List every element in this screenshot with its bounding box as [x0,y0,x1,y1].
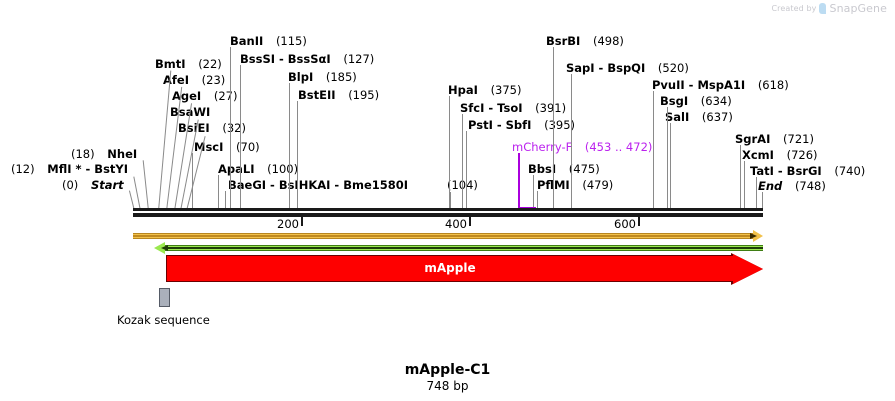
snapgene-brand-label: SnapGene [829,2,887,15]
site-name: BaeGI - BsIHKAI - Bme1580I [228,178,408,192]
site-label-bsssi[interactable]: BssSI - BssSαI (127) [240,53,374,65]
site-position: (0) [62,178,78,192]
leader-tati [756,177,757,211]
site-label-bsrbi[interactable]: BsrBI (498) [546,35,624,47]
site-position: (127) [343,52,374,66]
site-label-bsgi[interactable]: BsgI (634) [660,95,732,107]
cds-label: mApple [166,261,734,275]
site-label-agei[interactable]: AgeI (27) [172,90,237,102]
site-label-bmti[interactable]: BmtI (22) [155,58,222,70]
site-name: BlpI [288,70,313,84]
site-name: SalI [665,110,689,124]
site-name: AgeI [172,89,201,103]
site-label-mfli[interactable]: (12) MflI * - BstYI [11,163,128,175]
site-label-end[interactable]: End (748) [758,180,826,192]
leader-bstell [297,101,298,211]
site-label-pvuii[interactable]: PvuII - MspA1I (618) [652,79,789,91]
site-label-sgrai[interactable]: SgrAI (721) [735,133,814,145]
leader-xcmi [744,161,745,211]
credit-prefix-label: Created by [771,4,816,13]
ruler-label-200: 200 [277,217,299,231]
site-name: MscI [194,140,223,154]
site-name: SgrAI [735,132,770,146]
site-name: BssSI - BssSαI [240,52,331,66]
primer-arrow-head-inner [161,245,168,251]
site-label-sfci[interactable]: SfcI - TsoI (391) [460,102,566,114]
leader-mfli [133,177,141,212]
snapgene-linear-map: Created by SnapGene BanII (115) BssSI - … [0,0,895,401]
site-position: (23) [202,73,226,87]
cds-arrow-head [733,254,763,284]
site-name: BanII [230,34,263,48]
leader-psti [466,131,467,211]
site-position: (195) [348,88,379,102]
leader-sfci [462,114,463,211]
site-position: (375) [491,83,522,97]
site-position: (115) [276,34,307,48]
site-label-blpi[interactable]: BlpI (185) [288,71,357,83]
site-position: (475) [569,162,600,176]
site-name: BbsI [528,162,556,176]
site-label-nhei[interactable]: (18) NheI [71,148,137,160]
leader-bsrbi [553,47,554,211]
plasmid-title: mApple-C1 [0,362,895,378]
site-label-pflmi[interactable]: PflMI (479) [537,179,613,191]
site-position: (18) [71,147,95,161]
site-label-bstell[interactable]: BstEII (195) [298,89,379,101]
leader-mcherry-f [518,153,520,209]
site-name: TatI - BsrGI [750,164,822,178]
site-name: PvuII - MspA1I [652,78,745,92]
site-label-sapi[interactable]: SapI - BspQI (520) [566,62,689,74]
site-label-xcmi[interactable]: XcmI (726) [742,149,818,161]
site-label-tati[interactable]: TatI - BsrGI (740) [750,165,865,177]
feature-name: mCherry-F [512,140,572,154]
site-label-baegi[interactable]: BaeGI - BsIHKAI - Bme1580I [228,179,408,191]
site-position: (185) [326,70,357,84]
leader-sapi [571,74,572,211]
leader-banii [230,47,231,211]
site-label-banii[interactable]: BanII (115) [230,35,307,47]
promoter-arrow-core [133,235,753,237]
site-position: (748) [795,179,826,193]
site-position: (726) [787,148,818,162]
site-position: (498) [593,34,624,48]
ruler-label-400: 400 [445,217,467,231]
ruler-label-600: 600 [614,217,636,231]
site-name: BstEII [298,88,336,102]
leader-nhei [143,160,149,211]
leader-sali [670,123,671,211]
site-position: (634) [701,94,732,108]
site-position: (520) [658,61,689,75]
site-name: MflI * - BstYI [47,162,128,176]
site-name: PstI - SbfI [468,118,531,132]
site-position: (637) [702,110,733,124]
site-position: (27) [214,89,238,103]
site-label-afei[interactable]: AfeI (23) [163,74,225,86]
kozak-feature-box[interactable] [159,288,170,307]
ruler-tick-200 [301,217,303,226]
site-name: BsrBI [546,34,580,48]
feature-label-mcherry-f[interactable]: mCherry-F (453 .. 472) [512,141,652,153]
site-name: XcmI [742,148,774,162]
feature-range: (453 .. 472) [585,140,653,154]
site-position: (100) [267,162,298,176]
site-label-bbsi[interactable]: BbsI (475) [528,163,600,175]
site-name: SapI - BspQI [566,61,645,75]
leader-bsssi [240,65,241,211]
site-name: SfcI - TsoI [460,101,523,115]
plasmid-size-label: 748 bp [0,379,895,393]
site-position: (12) [11,162,35,176]
site-label-psti[interactable]: PstI - SbfI (395) [468,119,575,131]
snapgene-credit: Created by SnapGene [771,2,887,15]
leader-bsgi [667,107,668,211]
site-label-sali[interactable]: SalI (637) [665,111,733,123]
leader-sgrai [740,145,741,211]
site-name: End [758,179,782,193]
site-name: Start [91,178,124,192]
leader-pvuii [653,91,654,211]
promoter-arrow-head-inner [750,233,757,239]
kozak-label: Kozak sequence [117,313,210,327]
site-label-start[interactable]: (0) Start [62,179,124,191]
site-name: HpaI [448,83,478,97]
leader-blpi [289,83,290,211]
backbone-top-bar [133,208,763,211]
snapgene-bookmark-icon [819,3,826,14]
site-position: (22) [198,57,222,71]
site-position: (479) [582,178,613,192]
site-position: (740) [834,164,865,178]
ruler-tick-400 [469,217,471,226]
site-name: BmtI [155,57,186,71]
site-name: AfeI [163,73,189,87]
site-name: BsiEI [178,121,210,135]
site-label-hpai[interactable]: HpaI (375) [448,84,522,96]
site-position: (721) [783,132,814,146]
site-name: ApaLI [218,162,255,176]
primer-arrow-core [168,247,763,249]
site-name: NheI [107,147,137,161]
site-name: BsgI [660,94,688,108]
ruler-tick-600 [638,217,640,226]
leader-bbsi [533,175,534,211]
site-position: (391) [535,101,566,115]
site-position: (618) [758,78,789,92]
site-position: (32) [222,121,246,135]
leader-apali [218,175,219,211]
